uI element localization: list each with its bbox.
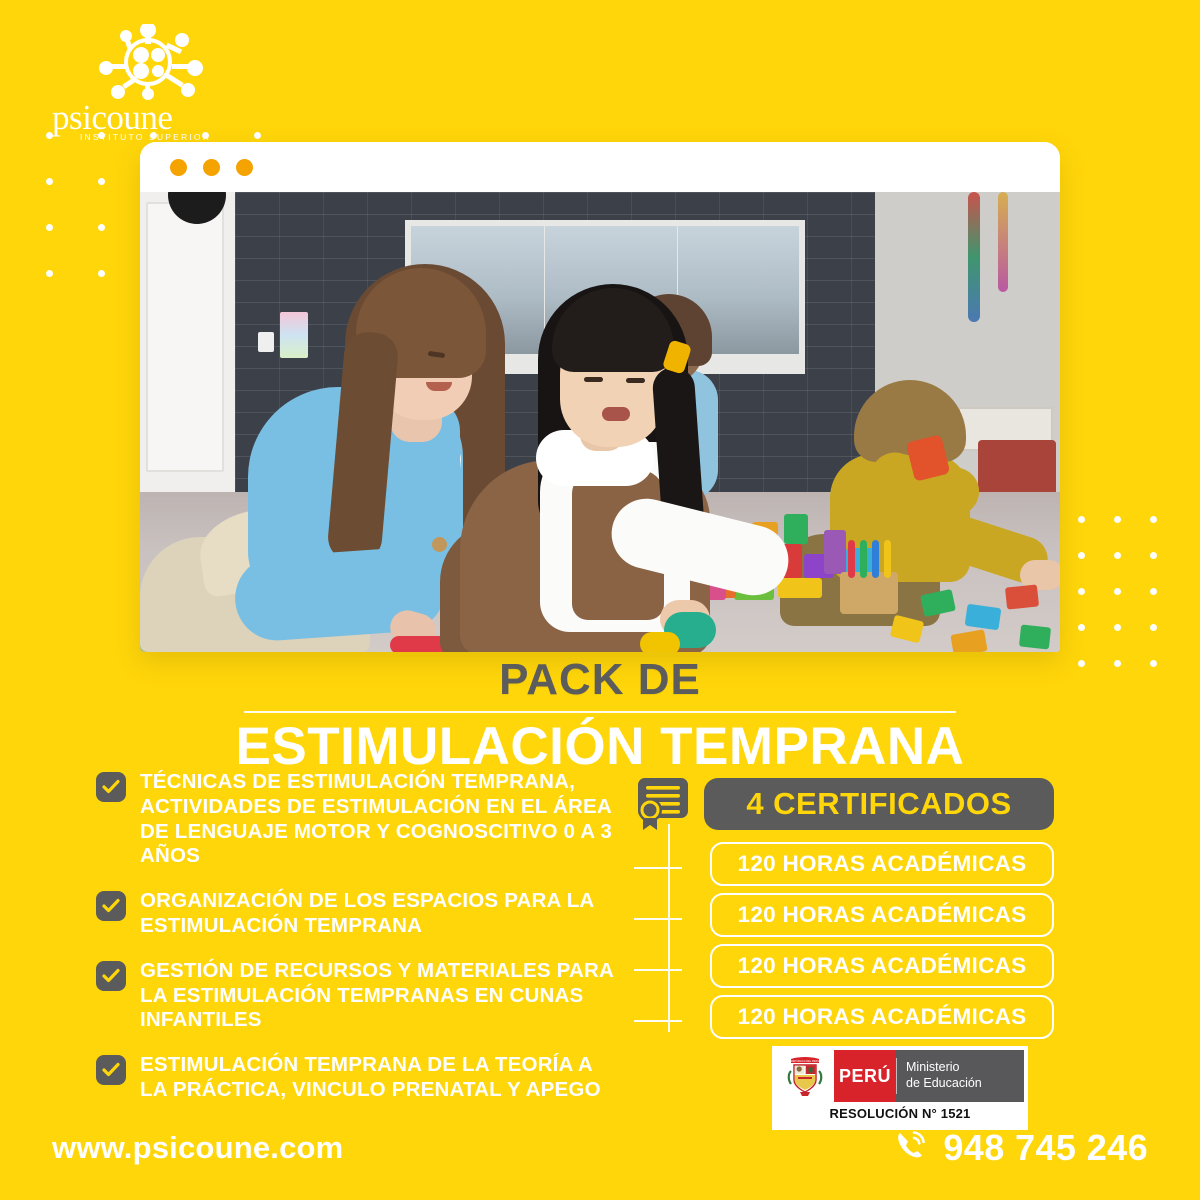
- list-item: GESTIÓN DE RECURSOS Y MATERIALES PARA LA…: [96, 959, 616, 1033]
- list-item: 120 HORAS ACADÉMICAS: [678, 944, 1054, 995]
- certificates-count-label: 4 CERTIFICADOS: [746, 786, 1011, 822]
- list-item: TÉCNICAS DE ESTIMULACIÓN TEMPRANA, ACTIV…: [96, 770, 616, 869]
- list-item: 120 HORAS ACADÉMICAS: [678, 995, 1054, 1046]
- hero-photo: [140, 192, 1060, 652]
- window-dot-green-icon[interactable]: [236, 159, 253, 176]
- hours-label: 120 HORAS ACADÉMICAS: [738, 851, 1027, 877]
- certificates-count-badge: 4 CERTIFICADOS: [704, 778, 1054, 830]
- list-item: ORGANIZACIÓN DE LOS ESPACIOS PARA LA EST…: [96, 889, 616, 939]
- browser-titlebar: [140, 142, 1060, 192]
- check-icon: [96, 772, 126, 802]
- list-item: ESTIMULACIÓN TEMPRANA DE LA TEORÍA A LA …: [96, 1053, 616, 1103]
- logo-tagline: INSTITUTO SUPERIOR: [80, 132, 260, 142]
- phone-call-icon: [891, 1126, 929, 1169]
- check-icon: [96, 961, 126, 991]
- ministry-line-1: Ministerio: [906, 1060, 1024, 1076]
- title-line-2: ESTIMULACIÓN TEMPRANA: [0, 719, 1200, 775]
- svg-text:REPUBLICA DEL PERU: REPUBLICA DEL PERU: [791, 1059, 819, 1063]
- website-link[interactable]: www.psicoune.com: [52, 1130, 343, 1166]
- hours-label: 120 HORAS ACADÉMICAS: [738, 953, 1027, 979]
- window-dot-red-icon[interactable]: [170, 159, 187, 176]
- hours-badge: 120 HORAS ACADÉMICAS: [710, 842, 1054, 886]
- title-line-1: PACK DE: [0, 658, 1200, 702]
- window-dot-yellow-icon[interactable]: [203, 159, 220, 176]
- ministry-resolution: RESOLUCIÓN N° 1521: [776, 1102, 1024, 1124]
- list-item-label: ESTIMULACIÓN TEMPRANA DE LA TEORÍA A LA …: [140, 1053, 616, 1103]
- peru-coat-of-arms-icon: REPUBLICA DEL PERU: [776, 1050, 834, 1102]
- tree-branch: [634, 969, 682, 971]
- hours-badge: 120 HORAS ACADÉMICAS: [710, 944, 1054, 988]
- tree-branch: [634, 918, 682, 920]
- browser-mockup: [140, 142, 1060, 652]
- molecule-neuron-icon: [48, 24, 248, 104]
- tree-branch: [634, 867, 682, 869]
- list-item: 120 HORAS ACADÉMICAS: [678, 893, 1054, 944]
- check-icon: [96, 891, 126, 921]
- list-item-label: ORGANIZACIÓN DE LOS ESPACIOS PARA LA EST…: [140, 889, 616, 939]
- check-icon: [96, 1055, 126, 1085]
- certificate-icon: [634, 776, 692, 832]
- ministry-logo-row: REPUBLICA DEL PERU PERÚ Ministerio: [776, 1050, 1024, 1102]
- tree-branch: [634, 1020, 682, 1022]
- certificates-panel: 4 CERTIFICADOS 120 HORAS ACADÉMICAS 120 …: [634, 776, 1054, 1046]
- hours-label: 120 HORAS ACADÉMICAS: [738, 1004, 1027, 1030]
- feature-list: TÉCNICAS DE ESTIMULACIÓN TEMPRANA, ACTIV…: [96, 770, 616, 1123]
- page-title: PACK DE ESTIMULACIÓN TEMPRANA: [0, 658, 1200, 775]
- poster-canvas: psicoune INSTITUTO SUPERIOR: [0, 0, 1200, 1200]
- hours-badge: 120 HORAS ACADÉMICAS: [710, 995, 1054, 1039]
- ministry-country-block: PERÚ: [834, 1050, 896, 1102]
- ministry-name-block: Ministerio de Educación: [896, 1050, 1024, 1102]
- phone-number: 948 745 246: [943, 1127, 1148, 1169]
- certificates-hours-tree: 120 HORAS ACADÉMICAS 120 HORAS ACADÉMICA…: [634, 842, 1054, 1046]
- title-divider: [244, 711, 956, 713]
- hours-badge: 120 HORAS ACADÉMICAS: [710, 893, 1054, 937]
- certificates-header: 4 CERTIFICADOS: [634, 776, 1054, 832]
- ministry-country-label: PERÚ: [839, 1066, 891, 1087]
- phone-contact[interactable]: 948 745 246: [891, 1126, 1148, 1169]
- list-item-label: TÉCNICAS DE ESTIMULACIÓN TEMPRANA, ACTIV…: [140, 770, 616, 869]
- peg-toy-icon: [840, 572, 898, 614]
- list-item: 120 HORAS ACADÉMICAS: [678, 842, 1054, 893]
- list-item-label: GESTIÓN DE RECURSOS Y MATERIALES PARA LA…: [140, 959, 616, 1033]
- ministry-line-2: de Educación: [906, 1076, 1024, 1092]
- tree-spine: [668, 824, 670, 1032]
- ministry-badge: REPUBLICA DEL PERU PERÚ Ministerio: [772, 1046, 1028, 1130]
- ministry-resolution-label: RESOLUCIÓN N° 1521: [829, 1106, 970, 1121]
- brand-logo: psicoune INSTITUTO SUPERIOR: [48, 24, 248, 134]
- hours-label: 120 HORAS ACADÉMICAS: [738, 902, 1027, 928]
